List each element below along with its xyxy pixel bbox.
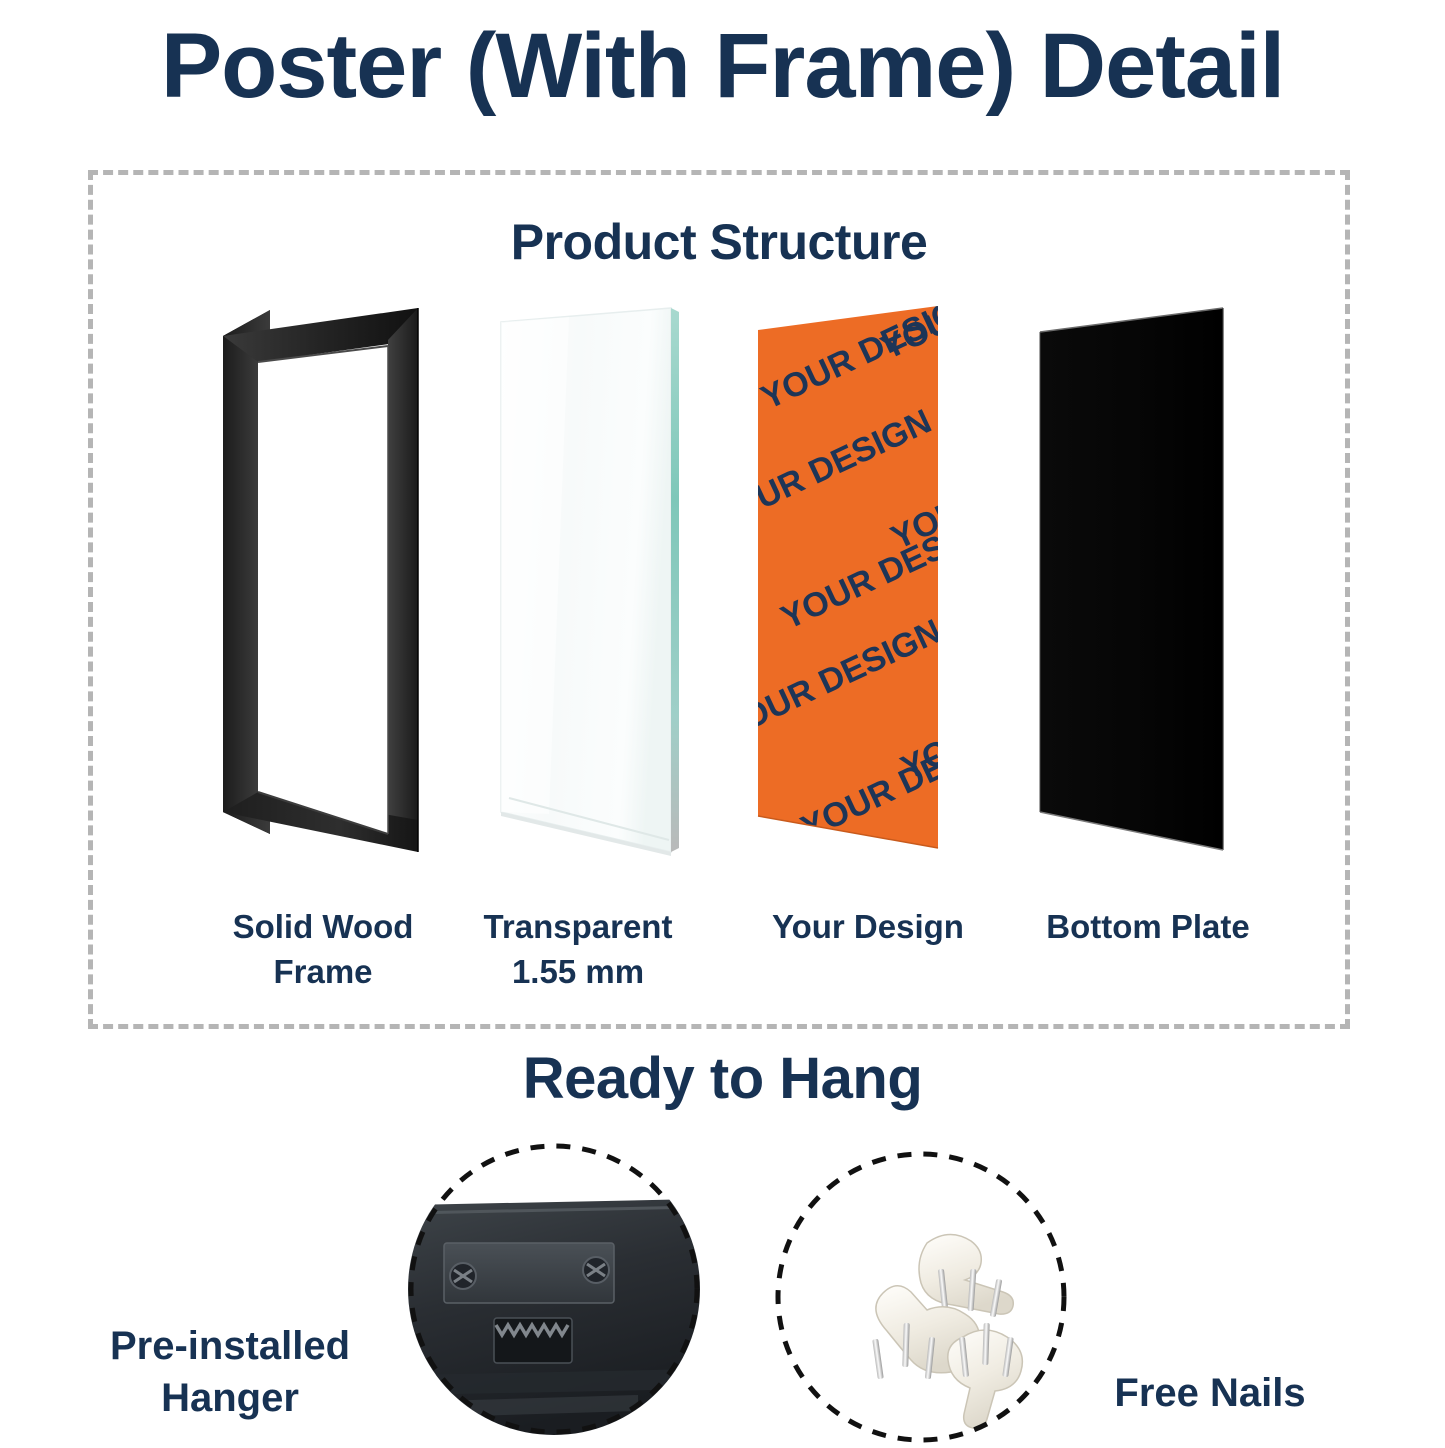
caption-line-2: 1.55 mm <box>428 950 728 995</box>
label-line-2: Hanger <box>60 1372 400 1424</box>
nails-dashed-ring <box>775 1151 1067 1443</box>
panel-bottom-plate <box>1018 300 1268 880</box>
label-free-nails: Free Nails <box>1055 1367 1365 1419</box>
hanger-dashed-ring <box>408 1143 700 1435</box>
ready-to-hang-heading: Ready to Hang <box>0 1045 1445 1112</box>
frame-icon <box>198 300 448 880</box>
panel-your-design: YOUR DESIGN YOUR DESIGN YOUR DESIGN YOUR… <box>748 300 998 880</box>
panel-transparent-sheet <box>473 300 723 880</box>
backboard-icon <box>1018 300 1268 880</box>
product-structure-heading: Product Structure <box>93 213 1345 271</box>
page-title: Poster (With Frame) Detail <box>0 18 1445 115</box>
caption-line-1: Transparent <box>428 905 728 950</box>
exploded-view-row: YOUR DESIGN YOUR DESIGN YOUR DESIGN YOUR… <box>88 300 1350 880</box>
caption-line-1: Bottom Plate <box>998 905 1298 950</box>
caption-your-design: Your Design <box>718 905 1018 950</box>
caption-bottom-plate: Bottom Plate <box>998 905 1298 950</box>
panel-solid-wood-frame <box>198 300 448 880</box>
label-line-1: Free Nails <box>1055 1367 1365 1419</box>
label-pre-installed-hanger: Pre-installed Hanger <box>60 1320 400 1424</box>
ready-to-hang-row: Pre-installed Hanger Free Nails <box>0 1135 1445 1445</box>
label-line-1: Pre-installed <box>60 1320 400 1372</box>
glass-panel-icon <box>473 300 723 880</box>
design-print-icon: YOUR DESIGN YOUR DESIGN YOUR DESIGN YOUR… <box>748 300 998 880</box>
caption-transparent-sheet: Transparent 1.55 mm <box>428 905 728 994</box>
caption-line-1: Your Design <box>718 905 1018 950</box>
panel-captions-row: Solid Wood Frame Transparent 1.55 mm You… <box>88 905 1350 1015</box>
